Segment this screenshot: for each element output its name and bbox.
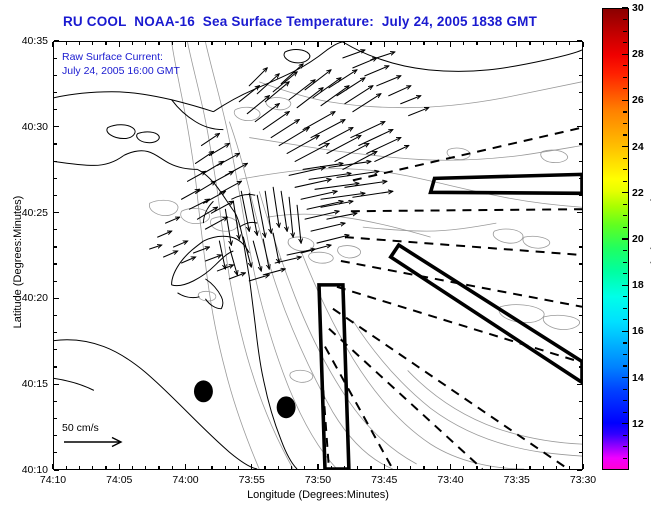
y-axis-minor-tick — [579, 349, 582, 350]
y-axis-tick-label: 40:15 — [4, 378, 48, 390]
x-axis-minor-tick — [476, 42, 477, 45]
x-axis-minor-tick — [543, 466, 544, 469]
colorbar-minor-tick — [623, 77, 627, 78]
y-axis-tick — [577, 298, 582, 299]
x-axis-tick — [52, 464, 53, 469]
x-axis-minor-tick — [79, 42, 80, 45]
x-axis-minor-tick — [397, 42, 398, 45]
colorbar-minor-tick — [623, 65, 627, 66]
x-axis-minor-tick — [490, 42, 491, 45]
x-axis-minor-tick — [556, 42, 557, 45]
y-axis-tick-label: 40:25 — [4, 207, 48, 219]
x-axis-tick — [317, 464, 318, 469]
x-axis-minor-tick — [291, 466, 292, 469]
colorbar-tick — [622, 192, 628, 193]
x-axis-minor-tick — [357, 42, 358, 45]
x-axis-minor-tick — [331, 466, 332, 469]
scale-bar-label: 50 cm/s — [62, 422, 148, 434]
x-axis-minor-tick — [211, 466, 212, 469]
x-axis-minor-tick — [158, 42, 159, 45]
x-axis-minor-tick — [543, 42, 544, 45]
x-axis-tick — [119, 42, 120, 47]
x-axis-tick — [384, 42, 385, 47]
y-axis-title: Latitude (Degrees:Minutes) — [12, 162, 24, 362]
colorbar-minor-tick — [623, 354, 627, 355]
colorbar-minor-tick — [623, 273, 627, 274]
x-axis-tick-label: 74:05 — [106, 474, 132, 486]
x-axis-minor-tick — [105, 466, 106, 469]
x-axis-tick — [582, 464, 583, 469]
right-arrow-icon — [62, 435, 134, 449]
colorbar-tick — [622, 285, 628, 286]
x-axis-minor-tick — [264, 42, 265, 45]
y-axis-minor-tick — [54, 143, 57, 144]
y-axis-tick — [577, 212, 582, 213]
x-axis-tick-label: 73:30 — [570, 474, 596, 486]
y-axis-minor-tick — [54, 401, 57, 402]
y-axis-tick-label: 40:20 — [4, 292, 48, 304]
y-axis-minor-tick — [579, 92, 582, 93]
colorbar-minor-tick — [623, 227, 627, 228]
x-axis-minor-tick — [172, 42, 173, 45]
colorbar-minor-tick — [623, 389, 627, 390]
y-axis-tick — [54, 298, 59, 299]
y-axis-minor-tick — [579, 435, 582, 436]
x-axis-minor-tick — [476, 466, 477, 469]
y-axis-minor-tick — [54, 75, 57, 76]
colorbar-tick-label: 14 — [632, 372, 644, 384]
x-axis-minor-tick — [225, 466, 226, 469]
y-axis-minor-tick — [54, 58, 57, 59]
bathymetry-contours — [149, 42, 582, 469]
x-axis-tick-label: 73:35 — [504, 474, 530, 486]
x-axis-minor-tick — [304, 42, 305, 45]
y-axis-minor-tick — [579, 58, 582, 59]
colorbar-minor-tick — [623, 412, 627, 413]
colorbar-minor-tick — [623, 134, 627, 135]
x-axis-minor-tick — [225, 42, 226, 45]
colorbar-minor-tick — [623, 400, 627, 401]
x-axis-tick — [185, 464, 186, 469]
x-axis-minor-tick — [344, 466, 345, 469]
y-axis-minor-tick — [54, 435, 57, 436]
y-axis-minor-tick — [579, 452, 582, 453]
x-axis-minor-tick — [92, 466, 93, 469]
x-axis-tick — [251, 42, 252, 47]
x-axis-tick — [582, 42, 583, 47]
x-axis-minor-tick — [79, 466, 80, 469]
colorbar-tick — [622, 100, 628, 101]
y-axis-tick — [577, 40, 582, 41]
colorbar-tick — [622, 377, 628, 378]
colorbar-minor-tick — [623, 262, 627, 263]
x-axis-minor-tick — [105, 42, 106, 45]
y-axis-minor-tick — [54, 452, 57, 453]
colorbar-tick-label: 20 — [632, 233, 644, 245]
colorbar-tick — [622, 54, 628, 55]
x-axis-tick — [516, 42, 517, 47]
x-axis-tick — [384, 464, 385, 469]
x-axis-minor-tick — [132, 466, 133, 469]
colorbar-minor-tick — [623, 215, 627, 216]
x-axis-tick-label: 74:00 — [172, 474, 198, 486]
x-axis-tick-label: 73:55 — [239, 474, 265, 486]
station-markers[interactable] — [194, 380, 296, 418]
y-axis-tick — [54, 212, 59, 213]
y-axis-minor-tick — [54, 195, 57, 196]
x-axis-minor-tick — [529, 466, 530, 469]
x-axis-minor-tick — [463, 466, 464, 469]
colorbar-minor-tick — [623, 181, 627, 182]
x-axis-minor-tick — [503, 466, 504, 469]
x-axis-minor-tick — [490, 466, 491, 469]
x-axis-minor-tick — [331, 42, 332, 45]
colorbar-tick — [622, 238, 628, 239]
x-axis-minor-tick — [291, 42, 292, 45]
y-axis-minor-tick — [54, 315, 57, 316]
x-axis-minor-tick — [463, 42, 464, 45]
colorbar-tick-label: 24 — [632, 141, 644, 153]
colorbar-tick-label: 12 — [632, 418, 644, 430]
x-axis-minor-tick — [410, 466, 411, 469]
colorbar-tick-label: 22 — [632, 187, 644, 199]
x-axis-minor-tick — [278, 466, 279, 469]
x-axis-minor-tick — [529, 42, 530, 45]
x-axis-minor-tick — [556, 466, 557, 469]
colorbar-tick-label: 28 — [632, 48, 644, 60]
x-axis-minor-tick — [410, 42, 411, 45]
y-axis-minor-tick — [579, 332, 582, 333]
x-axis-minor-tick — [397, 466, 398, 469]
y-axis-minor-tick — [54, 109, 57, 110]
y-axis-tick — [54, 126, 59, 127]
x-axis-minor-tick — [423, 466, 424, 469]
y-axis-minor-tick — [54, 332, 57, 333]
map-graphics — [54, 42, 582, 469]
y-axis-minor-tick — [579, 418, 582, 419]
x-axis-minor-tick — [569, 42, 570, 45]
x-axis-minor-tick — [264, 466, 265, 469]
colorbar-minor-tick — [623, 365, 627, 366]
x-axis-minor-tick — [569, 466, 570, 469]
x-axis-minor-tick — [370, 466, 371, 469]
y-axis-tick-label: 40:35 — [4, 35, 48, 47]
x-axis-tick — [251, 464, 252, 469]
y-axis-tick — [54, 40, 59, 41]
y-axis-minor-tick — [54, 418, 57, 419]
colorbar-minor-tick — [623, 19, 627, 20]
page-title: RU COOL NOAA-16 Sea Surface Temperature:… — [0, 14, 600, 29]
y-axis-minor-tick — [54, 366, 57, 367]
y-axis-minor-tick — [579, 366, 582, 367]
y-axis-tick — [577, 384, 582, 385]
colorbar-tick-label: 26 — [632, 94, 644, 106]
coastline — [54, 42, 582, 469]
colorbar[interactable] — [602, 8, 629, 470]
y-axis-minor-tick — [54, 161, 57, 162]
x-axis-minor-tick — [158, 466, 159, 469]
y-axis-minor-tick — [579, 143, 582, 144]
x-axis-tick — [119, 464, 120, 469]
x-axis-minor-tick — [66, 466, 67, 469]
y-axis-minor-tick — [579, 246, 582, 247]
y-axis-tick-label: 40:10 — [4, 464, 48, 476]
colorbar-minor-tick — [623, 169, 627, 170]
colorbar-minor-tick — [623, 296, 627, 297]
y-axis-minor-tick — [579, 195, 582, 196]
x-axis-minor-tick — [172, 466, 173, 469]
x-axis-tick — [52, 42, 53, 47]
x-axis-tick — [516, 464, 517, 469]
y-axis-tick — [577, 126, 582, 127]
x-axis-tick — [450, 464, 451, 469]
colorbar-minor-tick — [623, 204, 627, 205]
y-axis-minor-tick — [54, 178, 57, 179]
y-axis-minor-tick — [579, 161, 582, 162]
x-axis-minor-tick — [198, 42, 199, 45]
surface-current-vectors — [150, 50, 429, 281]
x-axis-minor-tick — [132, 42, 133, 45]
x-axis-minor-tick — [304, 466, 305, 469]
x-axis-minor-tick — [145, 466, 146, 469]
y-axis-tick-label: 40:30 — [4, 121, 48, 133]
y-axis-tick — [577, 469, 582, 470]
colorbar-minor-tick — [623, 123, 627, 124]
y-axis-minor-tick — [579, 109, 582, 110]
colorbar-minor-tick — [623, 308, 627, 309]
colorbar-minor-tick — [623, 88, 627, 89]
y-axis-minor-tick — [579, 315, 582, 316]
x-axis-tick-label: 73:50 — [305, 474, 331, 486]
y-axis-minor-tick — [579, 263, 582, 264]
y-axis-minor-tick — [54, 281, 57, 282]
x-axis-minor-tick — [370, 42, 371, 45]
x-axis-title: Longitude (Degrees:Minutes) — [53, 489, 583, 501]
x-axis-minor-tick — [437, 42, 438, 45]
scale-bar: 50 cm/s — [62, 422, 148, 449]
colorbar-tick — [622, 423, 628, 424]
x-axis-minor-tick — [503, 42, 504, 45]
y-axis-minor-tick — [54, 92, 57, 93]
x-axis-tick — [450, 42, 451, 47]
y-axis-minor-tick — [54, 263, 57, 264]
y-axis-minor-tick — [54, 229, 57, 230]
y-axis-minor-tick — [579, 75, 582, 76]
x-axis-minor-tick — [145, 42, 146, 45]
x-axis-minor-tick — [423, 42, 424, 45]
colorbar-minor-tick — [623, 31, 627, 32]
x-axis-minor-tick — [357, 466, 358, 469]
x-axis-tick-label: 73:45 — [371, 474, 397, 486]
y-axis-tick — [54, 469, 59, 470]
y-axis-minor-tick — [579, 178, 582, 179]
colorbar-minor-tick — [623, 319, 627, 320]
y-axis-minor-tick — [579, 281, 582, 282]
colorbar-minor-tick — [623, 250, 627, 251]
x-axis-minor-tick — [92, 42, 93, 45]
x-axis-tick-label: 73:40 — [437, 474, 463, 486]
y-axis-minor-tick — [54, 246, 57, 247]
colorbar-tick — [622, 146, 628, 147]
colorbar-tick — [622, 331, 628, 332]
colorbar-minor-tick — [623, 458, 627, 459]
x-axis-minor-tick — [238, 42, 239, 45]
colorbar-tick-label: 30 — [632, 2, 644, 14]
x-axis-tick — [317, 42, 318, 47]
colorbar-minor-tick — [623, 446, 627, 447]
colorbar-tick-label: 18 — [632, 279, 644, 291]
y-axis-tick — [54, 384, 59, 385]
x-axis-minor-tick — [437, 466, 438, 469]
colorbar-tick — [622, 7, 628, 8]
x-axis-minor-tick — [198, 466, 199, 469]
y-axis-minor-tick — [579, 401, 582, 402]
x-axis-minor-tick — [278, 42, 279, 45]
colorbar-minor-tick — [623, 158, 627, 159]
x-axis-minor-tick — [66, 42, 67, 45]
colorbar-tick-label: 16 — [632, 325, 644, 337]
colorbar-minor-tick — [623, 342, 627, 343]
x-axis-minor-tick — [211, 42, 212, 45]
colorbar-minor-tick — [623, 435, 627, 436]
y-axis-minor-tick — [579, 229, 582, 230]
screenshot-root: RU COOL NOAA-16 Sea Surface Temperature:… — [0, 0, 651, 518]
colorbar-minor-tick — [623, 111, 627, 112]
x-axis-tick — [185, 42, 186, 47]
colorbar-minor-tick — [623, 42, 627, 43]
x-axis-minor-tick — [344, 42, 345, 45]
map-plot-area[interactable]: Raw Surface Current: July 24, 2005 16:00… — [53, 41, 583, 470]
y-axis-minor-tick — [54, 349, 57, 350]
x-axis-minor-tick — [238, 466, 239, 469]
